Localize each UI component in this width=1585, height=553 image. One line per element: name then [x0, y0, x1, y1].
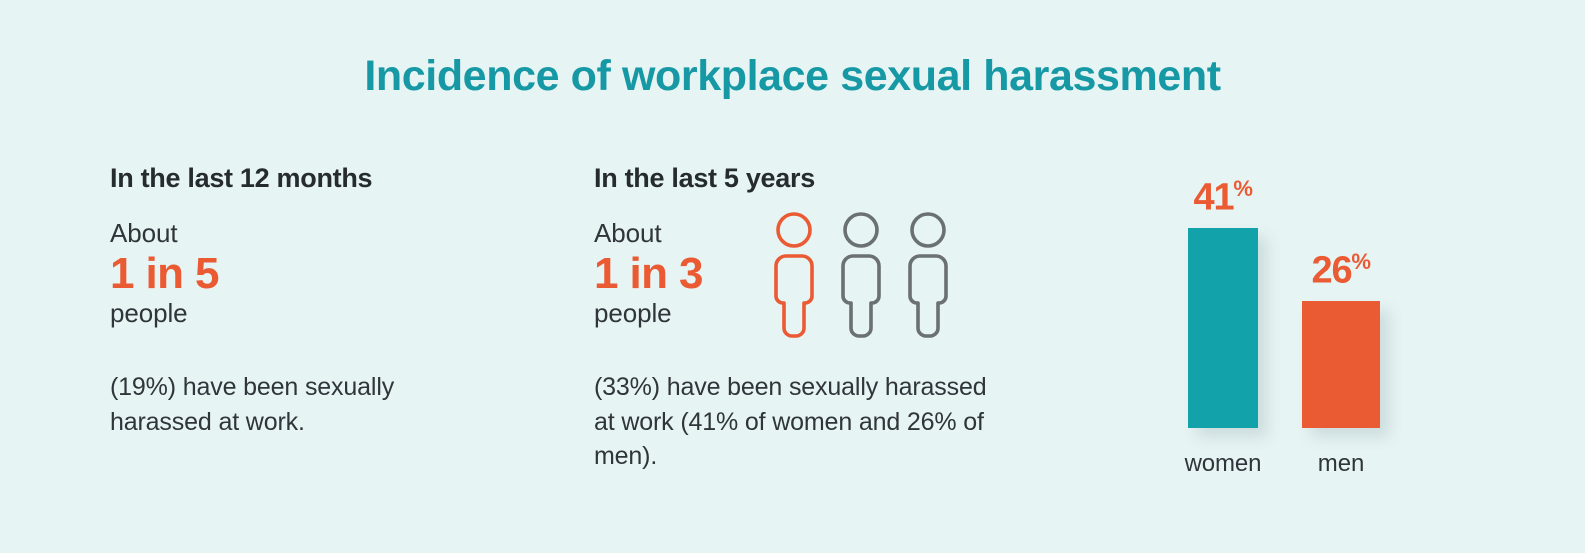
bar-group-women: 41% women	[1188, 228, 1258, 428]
column-2-about-label: About	[594, 218, 703, 249]
percent-symbol: %	[1351, 249, 1370, 274]
column-2-unit-label: people	[594, 298, 703, 329]
bar-value-men: 26%	[1312, 249, 1371, 293]
person-icon-group	[762, 207, 962, 347]
bar-value-men-number: 26	[1312, 250, 1352, 292]
bar-value-women: 41%	[1194, 176, 1253, 220]
column-1-ratio-value: 1 in 5	[110, 249, 219, 298]
column-1-about-label: About	[110, 218, 219, 249]
person-icon-2	[843, 214, 879, 336]
column-2-stat-block: About 1 in 3 people	[594, 218, 703, 329]
column-1-body-text: (19%) have been sexually harassed at wor…	[110, 370, 410, 439]
column-2-ratio-value: 1 in 3	[594, 249, 703, 298]
page-title: Incidence of workplace sexual harassment	[0, 52, 1585, 101]
person-icon-1	[776, 214, 812, 336]
column-1-stat-block: About 1 in 5 people	[110, 218, 219, 329]
column-1-unit-label: people	[110, 298, 219, 329]
bar-label-men: men	[1318, 450, 1364, 478]
bar-label-women: women	[1185, 450, 1262, 478]
column-2-heading: In the last 5 years	[594, 163, 815, 194]
column-1-heading: In the last 12 months	[110, 163, 372, 194]
bar-group-men: 26% men	[1302, 301, 1380, 428]
bar-rect-women	[1188, 228, 1258, 428]
bar-chart: 41% women 26% men	[1160, 150, 1450, 490]
bar-value-women-number: 41	[1194, 177, 1234, 219]
person-icon-3	[910, 214, 946, 336]
percent-symbol: %	[1233, 176, 1252, 201]
column-2-body-text: (33%) have been sexually harassed at wor…	[594, 370, 994, 474]
bar-rect-men	[1302, 301, 1380, 428]
